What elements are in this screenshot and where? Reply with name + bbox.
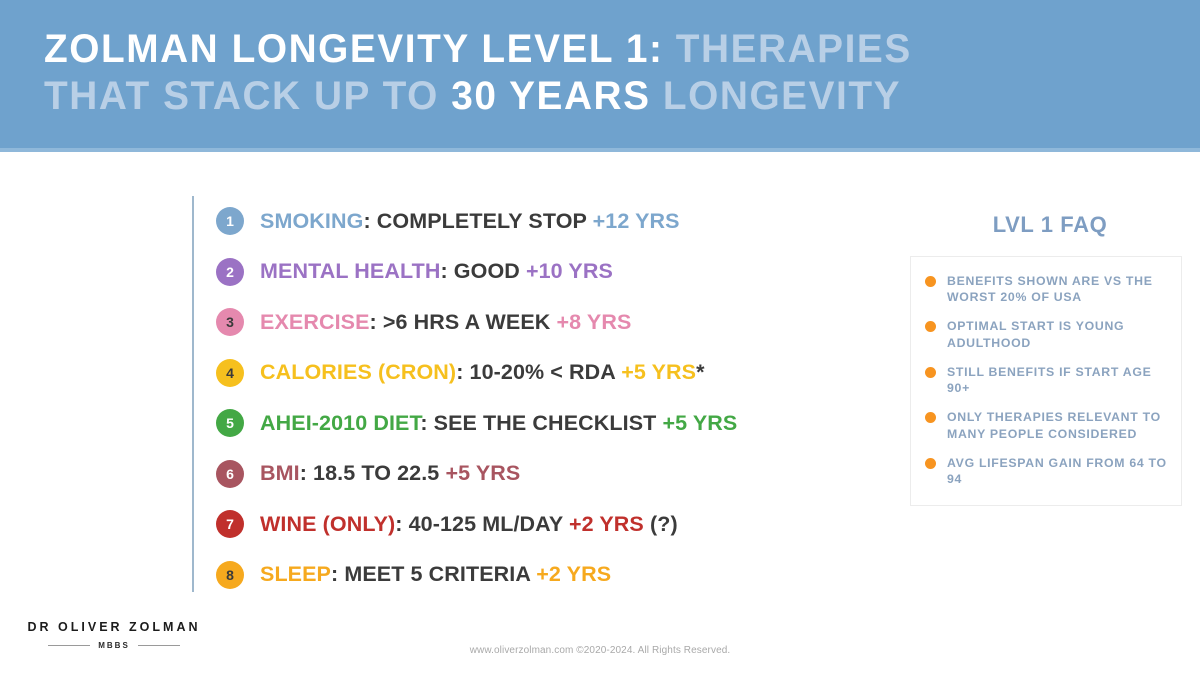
therapy-gain: +2 YRS	[536, 562, 611, 586]
page-title: ZOLMAN LONGEVITY LEVEL 1: THERAPIES THAT…	[44, 26, 1072, 120]
therapy-keyword: EXERCISE	[260, 310, 370, 334]
faq-item: STILL BENEFITS IF START AGE 90+	[925, 364, 1167, 396]
therapy-description: COMPLETELY STOP	[371, 209, 593, 233]
copyright-text: www.oliverzolman.com ©2020-2024. All Rig…	[0, 645, 1200, 656]
therapy-row-text: SLEEP: MEET 5 CRITERIA +2 YRS	[260, 562, 611, 587]
faq-item: OPTIMAL START IS YOUNG ADULTHOOD	[925, 318, 1167, 350]
therapy-row: 1SMOKING: COMPLETELY STOP +12 YRS	[216, 196, 876, 247]
therapy-number-badge: 8	[216, 561, 244, 589]
faq-bullet-icon	[925, 367, 936, 378]
therapy-number-badge: 2	[216, 258, 244, 286]
therapy-row: 5AHEI-2010 DIET: SEE THE CHECKLIST +5 YR…	[216, 398, 876, 449]
therapy-row-text: EXERCISE: >6 HRS A WEEK +8 YRS	[260, 310, 631, 335]
therapy-number-badge: 1	[216, 207, 244, 235]
therapy-separator: :	[440, 259, 447, 283]
logo-name: DR OLIVER ZOLMAN	[24, 620, 204, 634]
therapy-separator: :	[395, 512, 402, 536]
therapy-keyword: WINE (ONLY)	[260, 512, 395, 536]
therapy-number-badge: 7	[216, 510, 244, 538]
therapy-description: >6 HRS A WEEK	[377, 310, 557, 334]
therapy-separator: :	[363, 209, 370, 233]
faq-item: BENEFITS SHOWN ARE VS THE WORST 20% OF U…	[925, 273, 1167, 305]
faq-bullet-icon	[925, 321, 936, 332]
therapy-keyword: SMOKING	[260, 209, 363, 233]
therapy-number-badge: 3	[216, 308, 244, 336]
title-line1-pale: THERAPIES	[663, 27, 911, 71]
therapy-keyword: CALORIES (CRON)	[260, 360, 456, 384]
faq-bullet-icon	[925, 458, 936, 469]
therapy-row-text: MENTAL HEALTH: GOOD +10 YRS	[260, 259, 613, 284]
therapy-gain: +2 YRS	[569, 512, 644, 536]
therapy-row-text: AHEI-2010 DIET: SEE THE CHECKLIST +5 YRS	[260, 411, 737, 436]
therapy-row: 6BMI: 18.5 TO 22.5 +5 YRS	[216, 449, 876, 500]
title-line1-strong: ZOLMAN LONGEVITY LEVEL 1:	[44, 27, 663, 71]
therapy-gain: +5 YRS	[662, 411, 737, 435]
therapy-separator: :	[370, 310, 377, 334]
therapy-keyword: AHEI-2010 DIET	[260, 411, 420, 435]
therapy-description: 18.5 TO 22.5	[307, 461, 445, 485]
faq-item: ONLY THERAPIES RELEVANT TO MANY PEOPLE C…	[925, 409, 1167, 441]
therapy-row: 3EXERCISE: >6 HRS A WEEK +8 YRS	[216, 297, 876, 348]
title-line2-strong: 30 YEARS	[451, 74, 650, 118]
therapy-description: 40-125 ML/DAY	[403, 512, 569, 536]
therapy-keyword: MENTAL HEALTH	[260, 259, 440, 283]
therapy-description: GOOD	[448, 259, 526, 283]
faq-bullet-icon	[925, 412, 936, 423]
therapy-gain: +5 YRS	[621, 360, 696, 384]
faq-bullet-icon	[925, 276, 936, 287]
faq-item-text: BENEFITS SHOWN ARE VS THE WORST 20% OF U…	[947, 273, 1167, 305]
therapy-description: MEET 5 CRITERIA	[338, 562, 536, 586]
faq-item-text: AVG LIFESPAN GAIN FROM 64 TO 94	[947, 455, 1167, 487]
therapy-number-badge: 4	[216, 359, 244, 387]
therapy-row-text: WINE (ONLY): 40-125 ML/DAY +2 YRS (?)	[260, 512, 678, 537]
therapy-gain: +5 YRS	[445, 461, 520, 485]
therapy-separator: :	[300, 461, 307, 485]
therapy-gain: +10 YRS	[526, 259, 613, 283]
faq-item: AVG LIFESPAN GAIN FROM 64 TO 94	[925, 455, 1167, 487]
title-line2-pale-a: THAT STACK UP TO	[44, 74, 451, 118]
therapy-number-badge: 5	[216, 409, 244, 437]
therapy-row: 2MENTAL HEALTH: GOOD +10 YRS	[216, 247, 876, 298]
therapy-row-text: BMI: 18.5 TO 22.5 +5 YRS	[260, 461, 520, 486]
title-line2-pale-b: LONGEVITY	[651, 74, 902, 118]
therapy-row: 7WINE (ONLY): 40-125 ML/DAY +2 YRS (?)	[216, 499, 876, 550]
therapy-row: 8SLEEP: MEET 5 CRITERIA +2 YRS	[216, 550, 876, 601]
therapy-row-text: CALORIES (CRON): 10-20% < RDA +5 YRS*	[260, 360, 705, 385]
therapy-row-text: SMOKING: COMPLETELY STOP +12 YRS	[260, 209, 680, 234]
faq-card: BENEFITS SHOWN ARE VS THE WORST 20% OF U…	[910, 256, 1182, 506]
therapy-description: 10-20% < RDA	[463, 360, 621, 384]
therapy-gain: +12 YRS	[593, 209, 680, 233]
faq-item-text: OPTIMAL START IS YOUNG ADULTHOOD	[947, 318, 1167, 350]
faq-item-text: STILL BENEFITS IF START AGE 90+	[947, 364, 1167, 396]
header-banner: ZOLMAN LONGEVITY LEVEL 1: THERAPIES THAT…	[0, 0, 1200, 152]
faq-title: LVL 1 FAQ	[910, 212, 1190, 238]
therapy-keyword: SLEEP	[260, 562, 331, 586]
therapy-keyword: BMI	[260, 461, 300, 485]
therapy-row: 4CALORIES (CRON): 10-20% < RDA +5 YRS*	[216, 348, 876, 399]
therapy-tail-note: *	[696, 360, 704, 384]
faq-item-text: ONLY THERAPIES RELEVANT TO MANY PEOPLE C…	[947, 409, 1167, 441]
therapy-list: 1SMOKING: COMPLETELY STOP +12 YRS2MENTAL…	[216, 196, 876, 600]
therapy-gain: +8 YRS	[557, 310, 632, 334]
list-accent-rule	[192, 196, 194, 592]
therapy-separator: :	[420, 411, 427, 435]
therapy-tail-note: (?)	[644, 512, 678, 536]
therapy-description: SEE THE CHECKLIST	[428, 411, 663, 435]
therapy-number-badge: 6	[216, 460, 244, 488]
